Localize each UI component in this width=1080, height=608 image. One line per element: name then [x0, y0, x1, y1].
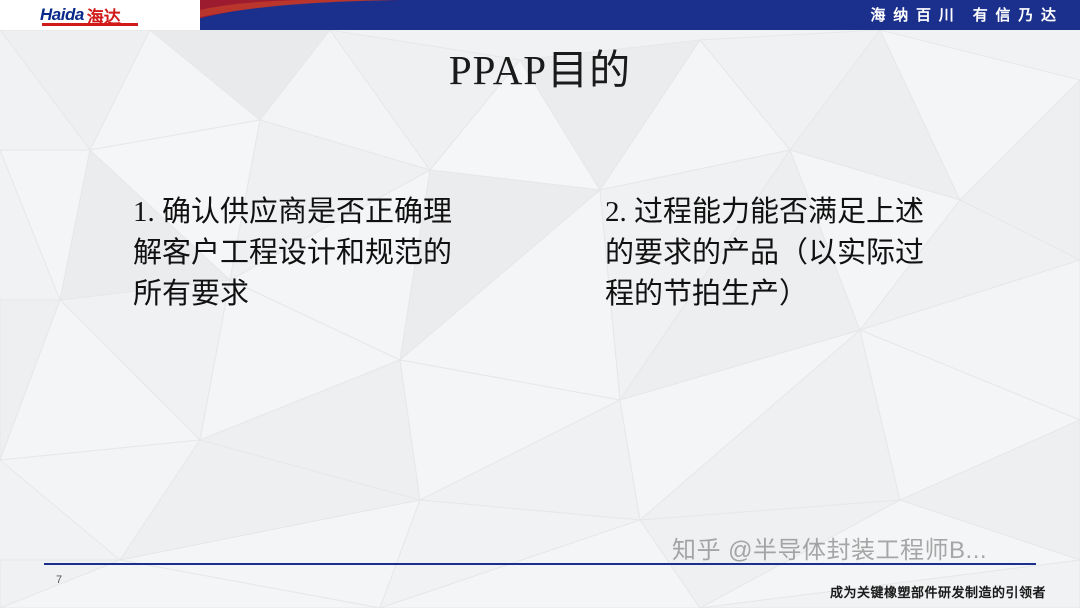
content-column-left: 1. 确认供应商是否正确理解客户工程设计和规范的所有要求 — [133, 192, 463, 316]
footer-slogan: 成为关键橡塑部件研发制造的引领者 — [830, 582, 1046, 601]
content-column-right: 2. 过程能力能否满足上述的要求的产品（以实际过程的节拍生产） — [605, 192, 945, 316]
footer-divider — [44, 563, 1036, 565]
slide-header-bar: Haida 海达 海 纳 百 川 有 信 乃 达 — [0, 0, 1080, 30]
presentation-slide: Haida 海达 海 纳 百 川 有 信 乃 达 PPAP目的 1. 确认供应商… — [0, 0, 1080, 608]
company-logo: Haida 海达 — [0, 0, 200, 30]
watermark-text: 知乎 @半导体封装工程师B... — [672, 530, 987, 565]
header-slogan: 海 纳 百 川 有 信 乃 达 — [870, 4, 1058, 25]
page-title: PPAP目的 — [0, 36, 1080, 96]
logo-underline — [42, 23, 138, 26]
page-number: 7 — [56, 574, 62, 586]
logo-latin-text: Haida — [40, 5, 84, 25]
